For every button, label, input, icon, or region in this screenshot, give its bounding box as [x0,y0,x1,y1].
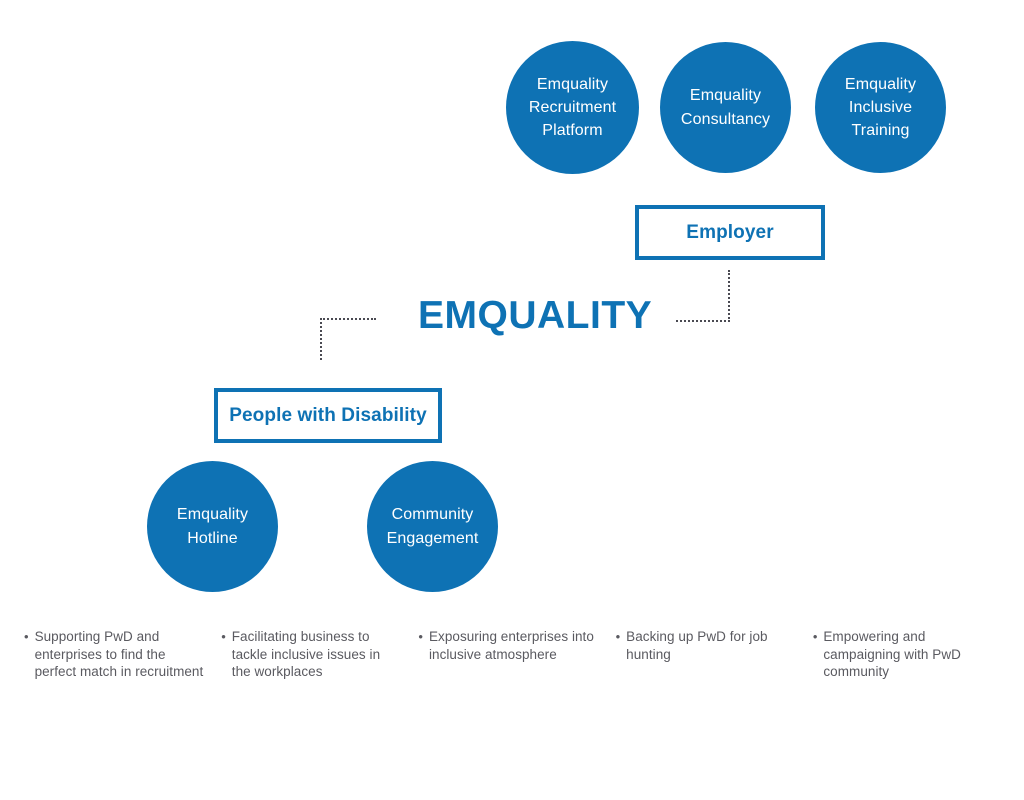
node-label: Emquality Hotline [167,503,258,549]
list-item: • Exposuring enterprises into inclusive … [418,628,615,663]
bullet-marker-icon: • [24,628,29,645]
node-label: Emquality Consultancy [671,84,780,130]
bullet-text: Exposuring enterprises into inclusive at… [429,628,600,663]
bullet-text: Facilitating business to tackle inclusiv… [232,628,403,681]
connector-segment-horizontal [320,318,376,320]
connector-employer-to-center [676,270,732,324]
node-emquality-recruitment-platform[interactable]: Emquality Recruitment Platform [506,41,639,174]
node-people-with-disability-box[interactable]: People with Disability [214,388,442,443]
node-label: Emquality Recruitment Platform [519,73,626,143]
node-emquality-consultancy[interactable]: Emquality Consultancy [660,42,791,173]
list-item: • Facilitating business to tackle inclus… [221,628,418,681]
diagram-title: EMQUALITY [418,296,652,335]
node-employer-box[interactable]: Employer [635,205,825,260]
bullet-list: • Supporting PwD and enterprises to find… [24,628,1010,681]
bullet-marker-icon: • [616,628,621,645]
list-item: • Empowering and campaigning with PwD co… [813,628,1010,681]
node-label: Employer [686,222,773,244]
node-label: Emquality Inclusive Training [835,73,926,143]
bullet-marker-icon: • [813,628,818,645]
connector-segment-vertical [320,318,322,360]
bullet-text: Supporting PwD and enterprises to find t… [35,628,206,681]
connector-segment-horizontal [676,320,730,322]
node-emquality-hotline[interactable]: Emquality Hotline [147,461,278,592]
bullet-marker-icon: • [221,628,226,645]
list-item: • Backing up PwD for job hunting [616,628,813,663]
list-item: • Supporting PwD and enterprises to find… [24,628,221,681]
node-community-engagement[interactable]: Community Engagement [367,461,498,592]
node-label: Community Engagement [377,503,489,549]
connector-pwd-to-center [320,318,378,362]
node-label: People with Disability [229,405,427,427]
bullet-marker-icon: • [418,628,423,645]
connector-segment-vertical [728,270,730,322]
bullet-text: Backing up PwD for job hunting [626,628,797,663]
bullet-text: Empowering and campaigning with PwD comm… [823,628,994,681]
node-emquality-inclusive-training[interactable]: Emquality Inclusive Training [815,42,946,173]
diagram-canvas: Emquality Recruitment Platform Emquality… [0,0,1024,800]
